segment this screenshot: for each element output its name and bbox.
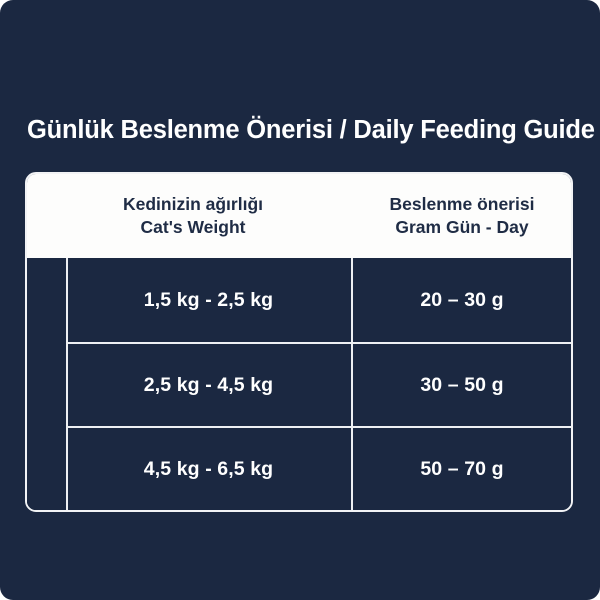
- cell-weight: 1,5 kg - 2,5 kg: [66, 258, 353, 342]
- page-title: Günlük Beslenme Önerisi / Daily Feeding …: [27, 113, 575, 147]
- column-header-amount: Beslenme önerisi Gram Gün - Day: [353, 193, 571, 239]
- column-header-weight-en: Cat's Weight: [141, 216, 246, 239]
- left-column-mask: [27, 258, 66, 510]
- table-row: 4,5 kg - 6,5 kg 50 – 70 g: [27, 426, 571, 510]
- column-header-amount-en: Gram Gün - Day: [395, 216, 528, 239]
- cell-amount: 20 – 30 g: [353, 258, 571, 342]
- table-row: 1,5 kg - 2,5 kg 20 – 30 g: [27, 258, 571, 342]
- cell-weight: 4,5 kg - 6,5 kg: [66, 428, 353, 510]
- table-header-row: Kedinizin ağırlığı Cat's Weight Beslenme…: [27, 174, 571, 258]
- cell-amount: 50 – 70 g: [353, 428, 571, 510]
- feeding-guide-card: Günlük Beslenme Önerisi / Daily Feeding …: [0, 0, 600, 600]
- cell-weight: 2,5 kg - 4,5 kg: [66, 344, 353, 426]
- column-header-weight: Kedinizin ağırlığı Cat's Weight: [27, 193, 353, 239]
- table-row: 2,5 kg - 4,5 kg 30 – 50 g: [27, 342, 571, 426]
- column-header-amount-tr: Beslenme önerisi: [390, 193, 535, 216]
- table-body: 1,5 kg - 2,5 kg 20 – 30 g 2,5 kg - 4,5 k…: [27, 258, 571, 510]
- column-header-weight-tr: Kedinizin ağırlığı: [123, 193, 263, 216]
- feeding-guide-table: Kedinizin ağırlığı Cat's Weight Beslenme…: [25, 172, 573, 512]
- left-column-divider: [66, 258, 68, 510]
- cell-amount: 30 – 50 g: [353, 344, 571, 426]
